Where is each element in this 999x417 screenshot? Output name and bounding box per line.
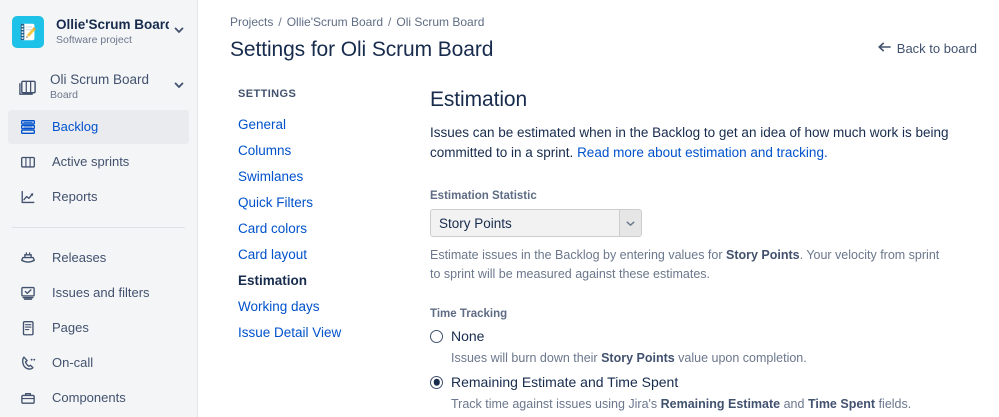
sidebar-nav-group-project: Releases Issues and filters xyxy=(0,241,197,415)
settings-nav-item-columns[interactable]: Columns xyxy=(238,138,398,164)
breadcrumb-item-projects[interactable]: Projects xyxy=(230,15,273,29)
back-to-board-label: Back to board xyxy=(897,41,977,56)
rh2-bold1: Remaining Estimate xyxy=(661,397,780,411)
monitor-check-icon xyxy=(16,284,40,302)
chevron-down-icon[interactable] xyxy=(619,210,641,236)
project-info: Ollie'Scrum Board Software project xyxy=(56,17,169,47)
settings-nav-item-card-colors[interactable]: Card colors xyxy=(238,216,398,242)
project-type: Software project xyxy=(56,33,169,47)
estimation-tracking-link[interactable]: Read more about estimation and tracking. xyxy=(577,145,828,160)
board-columns-icon xyxy=(16,153,40,171)
panel-title: Estimation xyxy=(430,86,953,114)
time-tracking-label: Time Tracking xyxy=(430,306,953,322)
project-sidebar: Ollie'Scrum Board Software project Oli S… xyxy=(0,0,198,417)
document-icon xyxy=(16,319,40,337)
sidebar-item-label: Backlog xyxy=(52,119,98,135)
breadcrumb: Projects/Ollie'Scrum Board/Oli Scrum Boa… xyxy=(230,14,975,30)
breadcrumb-separator: / xyxy=(278,15,281,29)
radio-help-none-part1: Issues will burn down their xyxy=(451,351,601,365)
radio-button-none[interactable] xyxy=(430,330,443,343)
settings-nav-item-quick-filters[interactable]: Quick Filters xyxy=(238,190,398,216)
toolbox-icon xyxy=(16,389,40,407)
page-title: Settings for Oli Scrum Board xyxy=(230,36,975,64)
settings-nav-item-issue-detail-view[interactable]: Issue Detail View xyxy=(238,320,398,346)
sidebar-item-label: Active sprints xyxy=(52,154,129,170)
arrow-left-icon xyxy=(878,41,892,56)
settings-nav-item-card-layout[interactable]: Card layout xyxy=(238,242,398,268)
chevron-down-icon[interactable] xyxy=(173,23,187,41)
breadcrumb-separator: / xyxy=(388,15,391,29)
breadcrumb-item-board[interactable]: Oli Scrum Board xyxy=(396,15,484,29)
main-content: Projects/Ollie'Scrum Board/Oli Scrum Boa… xyxy=(198,0,999,417)
rh2-bold2: Time Spent xyxy=(808,397,875,411)
radio-help-none-bold: Story Points xyxy=(601,351,675,365)
chevron-down-icon[interactable] xyxy=(173,78,187,96)
radio-row-none[interactable]: None xyxy=(430,326,953,346)
settings-content: SETTINGS General Columns Swimlanes Quick… xyxy=(198,64,999,414)
estimation-statistic-select[interactable]: Story Points xyxy=(430,209,642,237)
settings-nav: SETTINGS General Columns Swimlanes Quick… xyxy=(198,86,398,414)
sidebar-item-releases[interactable]: Releases xyxy=(8,241,189,275)
reports-chart-icon xyxy=(16,188,40,206)
sidebar-item-backlog[interactable]: Backlog xyxy=(8,110,189,144)
sidebar-item-issues-and-filters[interactable]: Issues and filters xyxy=(8,276,189,310)
helper-part-1: Estimate issues in the Backlog by enteri… xyxy=(430,248,726,262)
app-root: Ollie'Scrum Board Software project Oli S… xyxy=(0,0,999,417)
radio-row-remaining-estimate[interactable]: Remaining Estimate and Time Spent xyxy=(430,372,953,392)
back-to-board-link[interactable]: Back to board xyxy=(878,41,977,56)
sidebar-nav-group-board: Backlog Active sprints xyxy=(0,110,197,214)
radio-label-remaining-estimate: Remaining Estimate and Time Spent xyxy=(451,372,678,392)
sidebar-item-reports[interactable]: Reports xyxy=(8,180,189,214)
sidebar-item-active-sprints[interactable]: Active sprints xyxy=(8,145,189,179)
project-switcher[interactable]: Ollie'Scrum Board Software project xyxy=(0,10,197,54)
radio-button-remaining-estimate[interactable] xyxy=(430,376,443,389)
project-name: Ollie'Scrum Board xyxy=(56,17,169,33)
sidebar-item-label: Issues and filters xyxy=(52,285,150,301)
radio-label-none: None xyxy=(451,326,484,346)
time-tracking-option-none: None Issues will burn down their Story P… xyxy=(430,326,953,368)
estimation-statistic-helper: Estimate issues in the Backlog by enteri… xyxy=(430,246,953,284)
sidebar-item-label: Pages xyxy=(52,320,89,336)
rh2-part1: Track time against issues using Jira's xyxy=(451,397,661,411)
sidebar-item-pages[interactable]: Pages xyxy=(8,311,189,345)
helper-bold-story-points: Story Points xyxy=(726,248,800,262)
sidebar-item-label: On-call xyxy=(52,355,93,371)
settings-nav-item-swimlanes[interactable]: Swimlanes xyxy=(238,164,398,190)
radio-help-remaining-estimate: Track time against issues using Jira's R… xyxy=(451,395,953,414)
radio-help-none: Issues will burn down their Story Points… xyxy=(451,349,953,368)
board-columns-icon xyxy=(14,78,40,97)
panel-description: Issues can be estimated when in the Back… xyxy=(430,123,953,163)
rh2-part2: and xyxy=(780,397,808,411)
sidebar-item-label: Components xyxy=(52,390,126,406)
project-avatar xyxy=(12,16,44,48)
sidebar-item-label: Releases xyxy=(52,250,106,266)
sidebar-divider xyxy=(12,227,185,228)
backlog-icon xyxy=(16,118,40,136)
sidebar-item-components[interactable]: Components xyxy=(8,381,189,415)
phone-icon xyxy=(16,354,40,372)
estimation-statistic-value: Story Points xyxy=(431,210,619,236)
board-info: Oli Scrum Board Board xyxy=(50,72,169,102)
board-switcher[interactable]: Oli Scrum Board Board xyxy=(0,66,197,108)
settings-nav-item-estimation[interactable]: Estimation xyxy=(238,268,398,294)
sidebar-item-label: Reports xyxy=(52,189,98,205)
settings-nav-heading: SETTINGS xyxy=(238,86,398,102)
estimation-panel: Estimation Issues can be estimated when … xyxy=(398,86,973,414)
time-tracking-option-remaining-estimate: Remaining Estimate and Time Spent Track … xyxy=(430,372,953,414)
sidebar-item-on-call[interactable]: On-call xyxy=(8,346,189,380)
page-header: Projects/Ollie'Scrum Board/Oli Scrum Boa… xyxy=(198,0,999,64)
rh2-part3: fields. xyxy=(875,397,911,411)
board-type: Board xyxy=(50,88,169,102)
settings-nav-item-working-days[interactable]: Working days xyxy=(238,294,398,320)
notepad-pencil-icon xyxy=(17,21,39,43)
settings-nav-item-general[interactable]: General xyxy=(238,112,398,138)
board-name: Oli Scrum Board xyxy=(50,72,169,88)
ship-icon xyxy=(16,249,40,267)
breadcrumb-item-project[interactable]: Ollie'Scrum Board xyxy=(287,15,383,29)
estimation-statistic-label: Estimation Statistic xyxy=(430,188,953,204)
radio-help-none-part2: value upon completion. xyxy=(675,351,807,365)
